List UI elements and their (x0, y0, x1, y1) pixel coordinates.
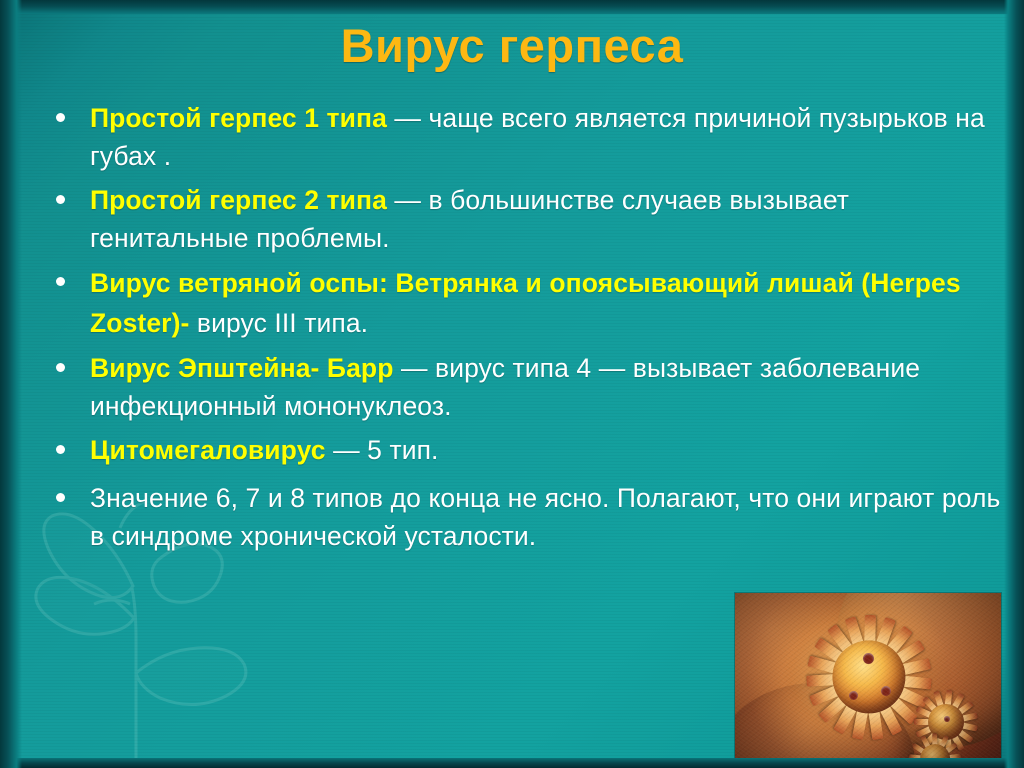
list-item-text: Цитомегаловирус — 5 тип. (90, 431, 1011, 469)
list-item-highlight: Вирус Эпштейна- Барр (90, 353, 394, 383)
list-item: Значение 6, 7 и 8 типов до конца не ясно… (56, 479, 1011, 555)
disc-bullet-icon (56, 195, 65, 204)
page-title: Вирус герпеса (0, 18, 1024, 73)
presentation-slide: Вирус герпеса Простой герпес 1 типа — ча… (0, 0, 1024, 768)
list-item: Простой герпес 1 типа — чаще всего являе… (56, 99, 1011, 175)
bullet-list: Простой герпес 1 типа — чаще всего являе… (56, 99, 1011, 561)
list-item-highlight: Простой герпес 2 типа (90, 185, 387, 215)
list-item-highlight: Простой герпес 1 типа (90, 103, 387, 133)
list-item-text: Значение 6, 7 и 8 типов до конца не ясно… (90, 479, 1011, 555)
image-vignette (735, 593, 1001, 768)
list-item-body: — 5 тип. (326, 435, 439, 465)
list-item: Цитомегаловирус — 5 тип. (56, 431, 1011, 469)
disc-bullet-icon (56, 113, 65, 122)
list-item: Вирус ветряной оспы: Ветрянка и опоясыва… (56, 263, 1011, 343)
disc-bullet-icon (56, 493, 65, 502)
slide-border-top (0, 0, 1024, 14)
slide-border-left (0, 0, 22, 768)
list-item-text: Простой герпес 1 типа — чаще всего являе… (90, 99, 1011, 175)
list-item-text: Вирус Эпштейна- Барр — вирус типа 4 — вы… (90, 349, 1011, 425)
list-item-text: Простой герпес 2 типа — в большинстве сл… (90, 181, 1011, 257)
list-item-highlight: Цитомегаловирус (90, 435, 326, 465)
list-item-body: вирус III типа. (189, 308, 368, 338)
list-item-body: Значение 6, 7 и 8 типов до конца не ясно… (90, 483, 1000, 551)
herpes-virus-image (735, 593, 1001, 768)
disc-bullet-icon (56, 277, 65, 286)
list-item-text: Вирус ветряной оспы: Ветрянка и опоясыва… (90, 263, 1011, 343)
list-item: Простой герпес 2 типа — в большинстве сл… (56, 181, 1011, 257)
disc-bullet-icon (56, 445, 65, 454)
list-item: Вирус Эпштейна- Барр — вирус типа 4 — вы… (56, 349, 1011, 425)
disc-bullet-icon (56, 363, 65, 372)
